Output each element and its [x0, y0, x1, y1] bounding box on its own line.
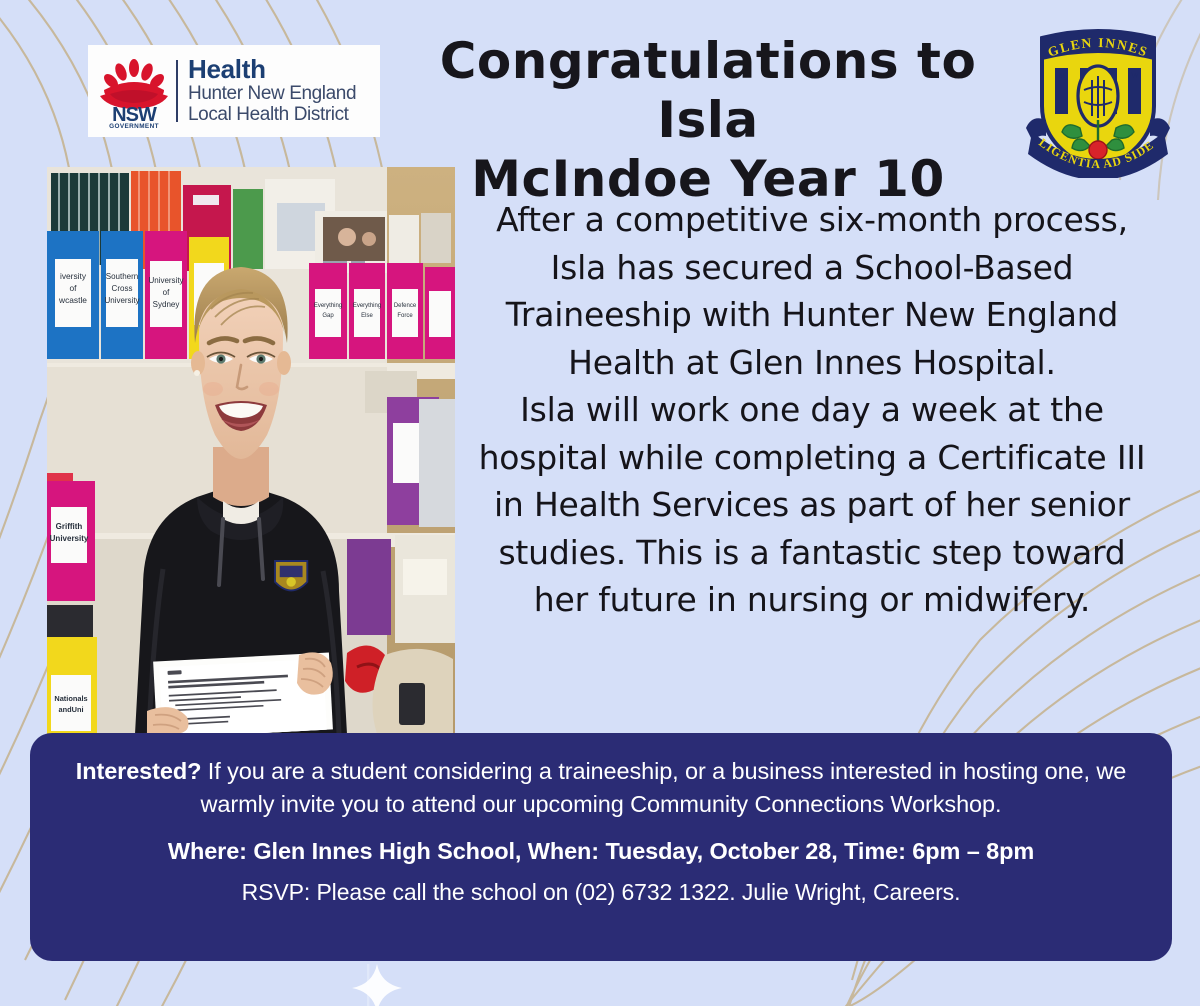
sparkle-star-icon [348, 962, 406, 1006]
body-copy: After a competitive six-month process, I… [468, 196, 1156, 624]
logo-health-word: Health [188, 56, 356, 82]
svg-text:Gap: Gap [322, 313, 334, 319]
nsw-health-logo: NSW GOVERNMENT Health Hunter New England… [88, 45, 380, 137]
svg-text:University: University [50, 534, 89, 543]
logo-divider [176, 60, 178, 122]
svg-text:W: W [1131, 71, 1139, 80]
banner-intro-bold: Interested? [76, 758, 202, 784]
svg-text:Griffith: Griffith [56, 522, 83, 531]
banner-intro-rest: If you are a student considering a train… [201, 758, 1127, 817]
banner-event-details: Where: Glen Innes High School, When: Tue… [64, 838, 1138, 865]
svg-text:wcastle: wcastle [58, 295, 87, 305]
nsw-waratah-icon: NSW GOVERNMENT [96, 54, 172, 128]
body-paragraph-2: Isla will work one day a week at the hos… [468, 386, 1156, 624]
svg-text:Everything: Everything [353, 303, 381, 309]
svg-text:Else: Else [361, 313, 373, 319]
logo-district-line1: Hunter New England [188, 84, 356, 105]
svg-text:University: University [104, 296, 139, 305]
page-title: Congratulations to Isla McIndoe Year 10 [398, 32, 1018, 209]
title-line-1: Congratulations to Isla [398, 32, 1018, 150]
svg-text:M: M [1058, 71, 1065, 80]
poster-canvas: NSW GOVERNMENT Health Hunter New England… [0, 0, 1200, 1006]
svg-text:Defence: Defence [394, 303, 417, 309]
svg-text:Force: Force [397, 313, 413, 319]
svg-text:University: University [148, 276, 183, 285]
glen-innes-high-school-crest: GLEN INNES MA TW [1022, 20, 1174, 178]
svg-text:of: of [163, 288, 170, 297]
svg-text:GOVERNMENT: GOVERNMENT [109, 123, 159, 128]
svg-text:andUni: andUni [58, 705, 83, 714]
svg-text:Southern: Southern [106, 272, 138, 281]
svg-text:Nationals: Nationals [54, 694, 87, 703]
svg-text:Cross: Cross [112, 284, 133, 293]
logo-district-line2: Local Health District [188, 105, 356, 126]
svg-text:Sydney: Sydney [153, 300, 180, 309]
call-to-action-banner: Interested? If you are a student conside… [30, 733, 1172, 961]
student-photo: iversity of wcastle Southern Cross Unive… [47, 167, 455, 734]
svg-text:of: of [70, 283, 78, 293]
banner-rsvp: RSVP: Please call the school on (02) 673… [64, 879, 1138, 906]
body-paragraph-1: After a competitive six-month process, I… [468, 196, 1156, 386]
banner-intro: Interested? If you are a student conside… [64, 755, 1138, 822]
svg-text:iversity: iversity [60, 271, 87, 281]
svg-text:Everything: Everything [314, 303, 342, 309]
